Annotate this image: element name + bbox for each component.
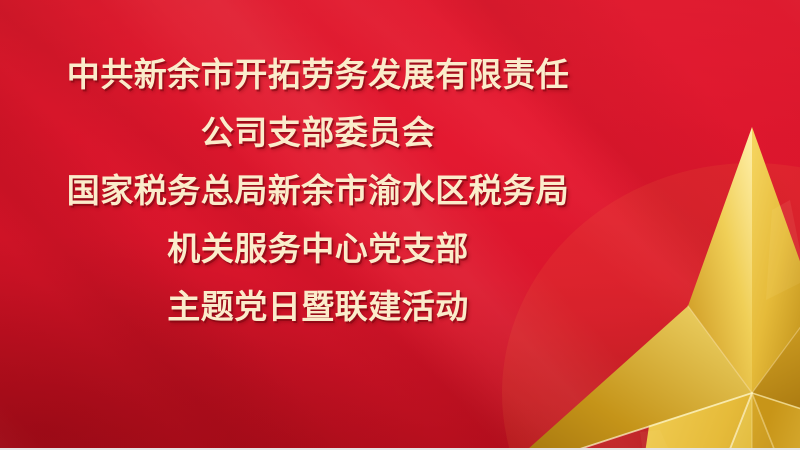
title-line-3: 国家税务总局新余市渝水区税务局 (0, 162, 636, 220)
title-line-5: 主题党日暨联建活动 (0, 278, 636, 336)
title-line-1: 中共新余市开拓劳务发展有限责任 (0, 46, 636, 104)
title-line-2: 公司支部委员会 (0, 104, 636, 162)
title-line-4: 机关服务中心党支部 (0, 220, 636, 278)
banner-title-block: 中共新余市开拓劳务发展有限责任 公司支部委员会 国家税务总局新余市渝水区税务局 … (0, 46, 636, 336)
party-event-banner: 中共新余市开拓劳务发展有限责任 公司支部委员会 国家税务总局新余市渝水区税务局 … (0, 0, 800, 450)
